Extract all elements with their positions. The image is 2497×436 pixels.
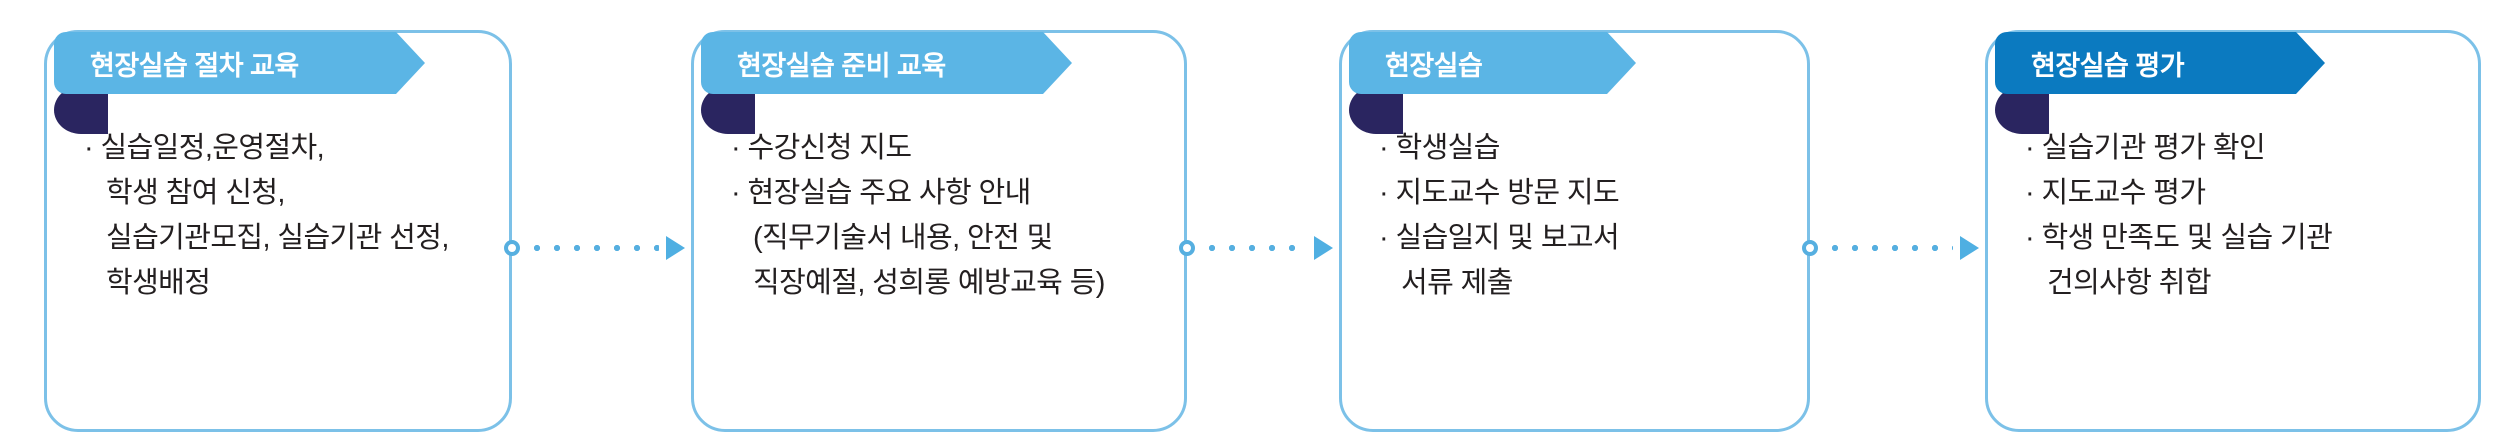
- step-detail-line: 건의사항 취합: [2025, 261, 2459, 306]
- step-detail-line: 실습기관모집, 실습기관 선정,: [84, 216, 490, 261]
- step-detail-line: 서류 제출: [1379, 261, 1788, 306]
- step-detail-list: · 실습일정,운영절차,학생 참여 신청,실습기관모집, 실습기관 선정,학생배…: [44, 126, 512, 306]
- flow-connector-arrow: [1802, 234, 1981, 268]
- step-detail-line: · 실습기관 평가 확인: [2025, 126, 2459, 171]
- step-detail-line: · 지도교수 방문 지도: [1379, 171, 1788, 216]
- flow-connector-arrow: [504, 234, 687, 268]
- connector-dotted-line: [1832, 245, 1953, 251]
- step-header-ribbon: 현장실습 절차 교육: [54, 32, 396, 94]
- step-detail-line: · 실습일지 및 보고서: [1379, 216, 1788, 261]
- process-step-card: 현장실습 평가· 실습기관 평가 확인· 지도교수 평가· 학생 만족도 및 실…: [1985, 30, 2481, 432]
- ribbon-chevron-tip-icon: [396, 32, 425, 94]
- connector-node-circle-icon: [1179, 240, 1195, 256]
- step-detail-list: · 실습기관 평가 확인· 지도교수 평가· 학생 만족도 및 실습 기관건의사…: [1985, 126, 2481, 306]
- connector-node-circle-icon: [504, 240, 520, 256]
- ribbon-chevron-tip-icon: [1043, 32, 1072, 94]
- ribbon-chevron-tip-icon: [2296, 32, 2325, 94]
- connector-node-circle-icon: [1802, 240, 1818, 256]
- step-header-title: 현장실습 준비 교육: [737, 44, 946, 83]
- step-header-ribbon: 현장실습: [1349, 32, 1607, 94]
- step-header-title: 현장실습: [1385, 44, 1482, 83]
- connector-dotted-line: [1209, 245, 1307, 251]
- step-detail-line: · 지도교수 평가: [2025, 171, 2459, 216]
- step-header-ribbon: 현장실습 준비 교육: [701, 32, 1043, 94]
- step-header-ribbon: 현장실습 평가: [1995, 32, 2296, 94]
- step-header-title: 현장실습 평가: [2031, 44, 2184, 83]
- process-flow-diagram: 현장실습 절차 교육· 실습일정,운영절차,학생 참여 신청,실습기관모집, 실…: [0, 0, 2497, 436]
- process-step-card: 현장실습 절차 교육· 실습일정,운영절차,학생 참여 신청,실습기관모집, 실…: [44, 30, 512, 432]
- step-detail-line: 학생 참여 신청,: [84, 171, 490, 216]
- step-detail-line: · 수강신청 지도: [731, 126, 1165, 171]
- step-detail-line: (직무기술서 내용, 안전 및: [731, 216, 1165, 261]
- step-detail-line: · 현장실습 주요 사항 안내: [731, 171, 1165, 216]
- ribbon-chevron-tip-icon: [1607, 32, 1636, 94]
- step-header-title: 현장실습 절차 교육: [90, 44, 299, 83]
- flow-connector-arrow: [1179, 234, 1335, 268]
- step-detail-line: · 실습일정,운영절차,: [84, 126, 490, 171]
- step-detail-list: · 수강신청 지도· 현장실습 주요 사항 안내(직무기술서 내용, 안전 및직…: [691, 126, 1187, 306]
- step-detail-list: · 학생실습· 지도교수 방문 지도· 실습일지 및 보고서서류 제출: [1339, 126, 1810, 306]
- connector-arrowhead-icon: [1960, 236, 1979, 260]
- process-step-card: 현장실습 준비 교육· 수강신청 지도· 현장실습 주요 사항 안내(직무기술서…: [691, 30, 1187, 432]
- step-detail-line: 학생배정: [84, 261, 490, 306]
- process-step-card: 현장실습· 학생실습· 지도교수 방문 지도· 실습일지 및 보고서서류 제출: [1339, 30, 1810, 432]
- step-detail-line: 직장예절, 성희롱 예방교육 등): [731, 261, 1165, 306]
- step-detail-line: · 학생 만족도 및 실습 기관: [2025, 216, 2459, 261]
- connector-arrowhead-icon: [666, 236, 685, 260]
- connector-dotted-line: [534, 245, 659, 251]
- step-detail-line: · 학생실습: [1379, 126, 1788, 171]
- connector-arrowhead-icon: [1314, 236, 1333, 260]
